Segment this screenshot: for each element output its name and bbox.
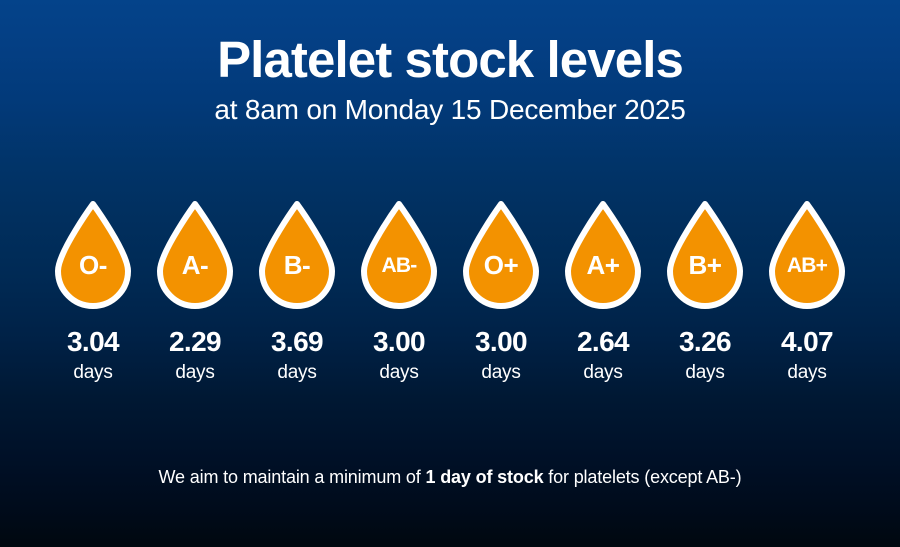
stock-level-value: 3.69 xyxy=(271,328,323,356)
blood-drop-icon: B+ xyxy=(662,198,748,310)
stock-level-unit: days xyxy=(583,363,622,382)
blood-drop-icon: O- xyxy=(50,198,136,310)
stock-level-value: 3.26 xyxy=(679,328,731,356)
droplet-cell: A-2.29days xyxy=(144,198,246,382)
stock-level-unit: days xyxy=(73,363,112,382)
footer-trail-text: for platelets (except AB-) xyxy=(543,467,741,487)
droplet-cell: A+2.64days xyxy=(552,198,654,382)
blood-drop-icon: O+ xyxy=(458,198,544,310)
platelet-stock-infographic: Platelet stock levels at 8am on Monday 1… xyxy=(0,0,900,547)
stock-level-value: 2.64 xyxy=(577,328,629,356)
droplet-cell: B-3.69days xyxy=(246,198,348,382)
stock-level-unit: days xyxy=(685,363,724,382)
stock-level-value: 3.00 xyxy=(373,328,425,356)
header: Platelet stock levels at 8am on Monday 1… xyxy=(0,0,900,127)
blood-drop-icon: A+ xyxy=(560,198,646,310)
stock-level-unit: days xyxy=(787,363,826,382)
page-subtitle: at 8am on Monday 15 December 2025 xyxy=(0,93,900,127)
stock-level-unit: days xyxy=(481,363,520,382)
footer-lead-text: We aim to maintain a minimum of xyxy=(159,467,426,487)
droplet-cell: B+3.26days xyxy=(654,198,756,382)
blood-drop-icon: A- xyxy=(152,198,238,310)
blood-drop-icon: B- xyxy=(254,198,340,310)
blood-group-droplet-row: O-3.04daysA-2.29daysB-3.69daysAB-3.00day… xyxy=(0,198,900,382)
droplet-cell: O-3.04days xyxy=(42,198,144,382)
stock-level-value: 4.07 xyxy=(781,328,833,356)
stock-level-unit: days xyxy=(175,363,214,382)
stock-level-value: 3.00 xyxy=(475,328,527,356)
footer-note: We aim to maintain a minimum of 1 day of… xyxy=(0,467,900,488)
droplet-cell: O+3.00days xyxy=(450,198,552,382)
stock-level-value: 3.04 xyxy=(67,328,119,356)
stock-level-unit: days xyxy=(379,363,418,382)
page-title: Platelet stock levels xyxy=(0,33,900,87)
droplet-cell: AB+4.07days xyxy=(756,198,858,382)
footer-emphasis-text: 1 day of stock xyxy=(425,467,543,487)
blood-drop-icon: AB+ xyxy=(764,198,850,310)
stock-level-value: 2.29 xyxy=(169,328,221,356)
stock-level-unit: days xyxy=(277,363,316,382)
droplet-cell: AB-3.00days xyxy=(348,198,450,382)
blood-drop-icon: AB- xyxy=(356,198,442,310)
